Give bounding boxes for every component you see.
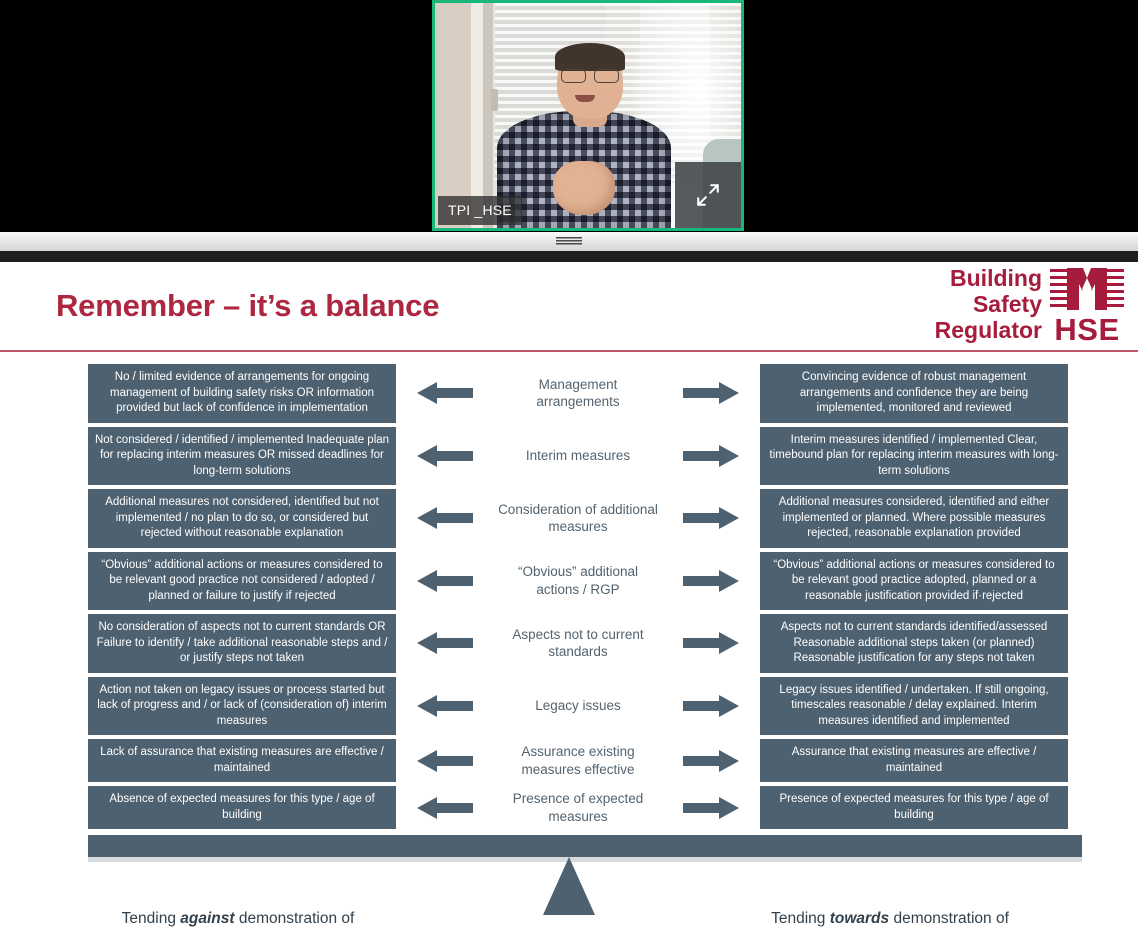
row-left-criteria: Not considered / identified / implemente… [88,427,396,486]
arrow-right-icon [662,786,760,829]
row-topic: Interim measures [494,427,662,486]
row-topic: “Obvious” additional actions / RGP [494,552,662,611]
arrow-right-icon [662,364,760,423]
row-left-criteria: Additional measures not considered, iden… [88,489,396,548]
row-left-criteria: Absence of expected measures for this ty… [88,786,396,829]
arrow-left-icon [396,552,494,611]
arrow-right-icon [662,614,760,673]
participant-name-label: TPI _HSE [438,196,522,225]
slide-footer: Tending against demonstration of “all re… [0,907,1138,932]
footer-left-prefix: Tending [122,910,181,927]
drag-handle-icon[interactable] [556,237,582,246]
matrix-row: No / limited evidence of arrangements fo… [0,364,1138,423]
arrow-left-icon [396,677,494,736]
black-separator-bar [0,251,1138,262]
brand-lockup: Building Safety Regulator [935,266,1124,344]
balance-beam-icon [88,835,1082,857]
arrow-right-icon [662,552,760,611]
row-left-criteria: “Obvious” additional actions or measures… [88,552,396,611]
row-topic: Presence of expected measures [494,786,662,829]
participant-video-tile[interactable]: TPI _HSE [432,0,744,231]
participant-hair [555,43,625,71]
row-right-criteria: Assurance that existing measures are eff… [760,739,1068,782]
footer-right-caption: Tending towards demonstration of “all re… [680,907,1100,932]
matrix-row: “Obvious” additional actions or measures… [0,552,1138,611]
hse-chevron-logo-icon [1050,266,1124,314]
slide-header: Remember – it’s a balance Building Safet… [0,262,1138,352]
arrow-left-icon [396,786,494,829]
footer-right-prefix: Tending [771,910,830,927]
arrow-left-icon [396,489,494,548]
arrow-left-icon [396,739,494,782]
door-frame [471,3,483,228]
arrow-left-icon [396,427,494,486]
balance-matrix: No / limited evidence of arrangements fo… [0,352,1138,829]
row-right-criteria: Convincing evidence of robust management… [760,364,1068,423]
row-left-criteria: No consideration of aspects not to curre… [88,614,396,673]
page-title: Remember – it’s a balance [56,288,439,324]
row-right-criteria: “Obvious” additional actions or measures… [760,552,1068,611]
row-right-criteria: Additional measures considered, identifi… [760,489,1068,548]
door-handle [491,89,498,111]
row-topic: Aspects not to current standards [494,614,662,673]
arrow-right-icon [662,739,760,782]
footer-left-caption: Tending against demonstration of “all re… [28,907,448,932]
row-left-criteria: Lack of assurance that existing measures… [88,739,396,782]
footer-left-suffix: demonstration of [235,910,355,927]
matrix-row: Not considered / identified / implemente… [0,427,1138,486]
matrix-row: Absence of expected measures for this ty… [0,786,1138,829]
row-right-criteria: Aspects not to current standards identif… [760,614,1068,673]
matrix-row: Additional measures not considered, iden… [0,489,1138,548]
matrix-row: Action not taken on legacy issues or pro… [0,677,1138,736]
row-left-criteria: No / limited evidence of arrangements fo… [88,364,396,423]
brand-acronym: HSE [1054,315,1119,344]
row-right-criteria: Interim measures identified / implemente… [760,427,1068,486]
row-topic: Assurance existing measures effective [494,739,662,782]
arrow-right-icon [662,489,760,548]
presentation-slide: Remember – it’s a balance Building Safet… [0,262,1138,932]
expand-arrows-icon[interactable] [675,162,741,228]
row-topic: Legacy issues [494,677,662,736]
footer-right-emphasis: towards [830,910,889,927]
panel-resize-divider[interactable] [0,232,1138,251]
footer-right-suffix: demonstration of [889,910,1009,927]
matrix-row: Lack of assurance that existing measures… [0,739,1138,782]
brand-wordmark: Building Safety Regulator [935,266,1042,343]
row-topic: Consideration of additional measures [494,489,662,548]
participant-hands [553,161,615,215]
footer-left-emphasis: against [180,910,234,927]
arrow-left-icon [396,364,494,423]
hse-logo: HSE [1050,266,1124,344]
arrow-right-icon [662,677,760,736]
row-right-criteria: Presence of expected measures for this t… [760,786,1068,829]
brand-line-3: Regulator [935,318,1042,344]
brand-line-1: Building [935,266,1042,292]
row-left-criteria: Action not taken on legacy issues or pro… [88,677,396,736]
row-topic: Management arrangements [494,364,662,423]
brand-line-2: Safety [935,292,1042,318]
row-right-criteria: Legacy issues identified / undertaken. I… [760,677,1068,736]
arrow-left-icon [396,614,494,673]
meeting-video-strip: TPI _HSE [0,0,1138,232]
matrix-row: No consideration of aspects not to curre… [0,614,1138,673]
balance-beam-group [0,835,1138,907]
glasses-icon [561,69,619,81]
arrow-right-icon [662,427,760,486]
